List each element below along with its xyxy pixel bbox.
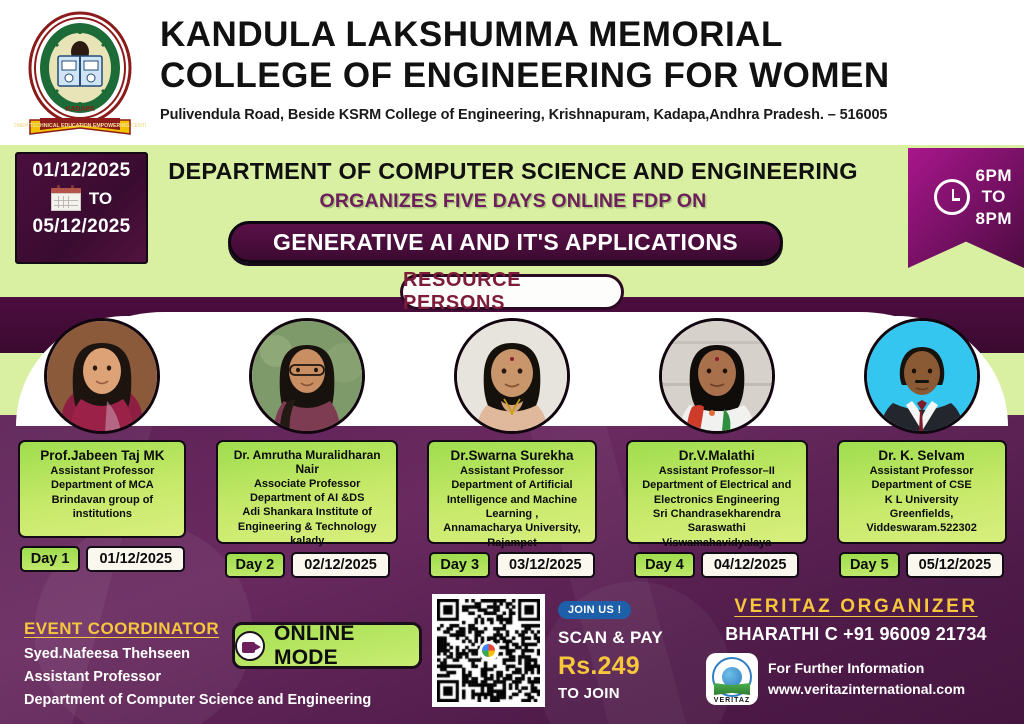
event-end-date: 05/12/2025 xyxy=(17,216,146,238)
resource-persons-label: RESOURCE PERSONS xyxy=(400,274,624,310)
event-date-box: 01/12/2025 TO 05/12/2025 xyxy=(15,152,148,264)
speaker-detail: Saraswathi xyxy=(633,521,801,535)
time-end: 8PM xyxy=(976,208,1012,229)
speaker-card: Dr.V.Malathi Assistant Professor–II Depa… xyxy=(626,440,808,544)
speaker-detail: Learning , xyxy=(434,507,590,521)
speaker-detail: Annamacharya University, xyxy=(434,521,590,535)
speaker-photo xyxy=(864,318,980,434)
day-label: Day 4 xyxy=(634,552,695,578)
day-label: Day 1 xyxy=(20,546,81,572)
speaker-detail: Sri Chandrasekharendra xyxy=(633,507,801,521)
day-date: 03/12/2025 xyxy=(496,552,595,578)
speaker-name: Dr. K. Selvam xyxy=(844,448,1000,464)
speaker-day-bar: Day 4 04/12/2025 xyxy=(634,552,799,578)
speaker-name: Dr.V.Malathi xyxy=(633,448,801,464)
time-to-label: TO xyxy=(976,186,1012,207)
speaker-detail: Assistant Professor–II xyxy=(633,464,801,478)
speaker-photo xyxy=(659,318,775,434)
speaker-detail: kalady xyxy=(223,534,391,548)
speaker-card: Prof.Jabeen Taj MK Assistant Professor D… xyxy=(18,440,186,538)
speaker-detail: Viddeswaram.522302 xyxy=(844,521,1000,535)
speaker-detail: Department of Artificial xyxy=(434,478,590,492)
date-to-label: TO xyxy=(89,189,112,209)
speaker-detail: institutions xyxy=(25,507,179,521)
speaker-column: Prof.Jabeen Taj MK Assistant Professor D… xyxy=(0,318,205,578)
speaker-day-bar: Day 3 03/12/2025 xyxy=(429,552,594,578)
speaker-name: Dr.Swarna Surekha xyxy=(434,448,590,464)
day-label: Day 3 xyxy=(429,552,490,578)
speaker-detail: Viswamahavidyalaya xyxy=(633,536,801,550)
speaker-column: Dr.V.Malathi Assistant Professor–II Depa… xyxy=(614,318,819,578)
to-join-label: TO JOIN xyxy=(558,685,663,702)
speaker-column: Dr.Swarna Surekha Assistant Professor De… xyxy=(410,318,615,578)
speaker-detail: Associate Professor xyxy=(223,477,391,491)
day-label: Day 5 xyxy=(839,552,900,578)
speaker-column: Dr. K. Selvam Assistant Professor Depart… xyxy=(819,318,1024,578)
speaker-card: Dr. K. Selvam Assistant Professor Depart… xyxy=(837,440,1007,544)
further-info-label: For Further Information xyxy=(768,658,965,679)
qr-matrix xyxy=(437,599,540,702)
day-date: 01/12/2025 xyxy=(86,546,185,572)
speaker-detail: Department of AI &DS xyxy=(223,491,391,505)
poster-header: KADAPA WOMEN TECHNICAL EDUCATION EMPOWER… xyxy=(0,0,1024,145)
speaker-day-bar: Day 2 02/12/2025 xyxy=(225,552,390,578)
online-mode-badge: ONLINE MODE xyxy=(232,622,422,669)
header-text-block: KANDULA LAKSHUMMA MEMORIAL COLLEGE OF EN… xyxy=(160,14,1020,123)
speaker-detail: Department of CSE xyxy=(844,478,1000,492)
college-crest-logo: KADAPA WOMEN TECHNICAL EDUCATION EMPOWER… xyxy=(14,8,146,140)
speakers-row: Prof.Jabeen Taj MK Assistant Professor D… xyxy=(0,318,1024,578)
speaker-card: Dr.Swarna Surekha Assistant Professor De… xyxy=(427,440,597,544)
calendar-icon xyxy=(51,185,81,212)
svg-text:WOMEN TECHNICAL EDUCATION EMPO: WOMEN TECHNICAL EDUCATION EMPOWERING CEN… xyxy=(14,123,146,129)
payment-info-block: JOIN US ! SCAN & PAY Rs.249 TO JOIN xyxy=(558,600,663,702)
coordinator-designation: Assistant Professor xyxy=(24,669,371,685)
speaker-photo xyxy=(249,318,365,434)
speaker-detail: Electronics Engineering xyxy=(633,493,801,507)
speaker-detail: Department of MCA xyxy=(25,478,179,492)
event-info-band: 01/12/2025 TO 05/12/2025 DEPARTMENT OF C… xyxy=(0,145,1024,275)
college-title-line-2: COLLEGE OF ENGINEERING FOR WOMEN xyxy=(160,55,1020,96)
qr-center-logo xyxy=(479,641,499,661)
organizer-contact: BHARATHI C +91 96009 21734 xyxy=(706,624,1006,645)
speaker-day-bar: Day 5 05/12/2025 xyxy=(839,552,1004,578)
join-us-badge: JOIN US ! xyxy=(558,601,631,619)
day-date: 04/12/2025 xyxy=(701,552,800,578)
day-label: Day 2 xyxy=(225,552,286,578)
speaker-day-bar: Day 1 01/12/2025 xyxy=(20,546,185,572)
scan-and-pay-label: SCAN & PAY xyxy=(558,628,663,648)
speaker-detail: Engineering & Technology xyxy=(223,520,391,534)
college-title-line-1: KANDULA LAKSHUMMA MEMORIAL xyxy=(160,14,1020,55)
speaker-name: Prof.Jabeen Taj MK xyxy=(25,448,179,464)
speaker-photo xyxy=(44,318,160,434)
payment-qr-code[interactable] xyxy=(432,594,545,707)
speaker-card: Dr. Amrutha Muralidharan Nair Associate … xyxy=(216,440,398,544)
speaker-detail: Assistant Professor xyxy=(434,464,590,478)
organizer-heading: VERITAZ ORGANIZER xyxy=(706,596,1006,618)
veritaz-logo: VERITAZ xyxy=(706,653,758,705)
department-title: DEPARTMENT OF COMPUTER SCIENCE AND ENGIN… xyxy=(163,158,863,185)
speaker-detail: Greenfields, xyxy=(844,507,1000,521)
organizes-subtitle: ORGANIZES FIVE DAYS ONLINE FDP ON xyxy=(163,190,863,213)
event-start-date: 01/12/2025 xyxy=(17,160,146,182)
speaker-detail: Rajampet xyxy=(434,536,590,550)
coordinator-department: Department of Computer Science and Engin… xyxy=(24,692,371,708)
day-date: 02/12/2025 xyxy=(291,552,390,578)
veritaz-logo-text: VERITAZ xyxy=(706,697,758,704)
online-mode-label: ONLINE MODE xyxy=(274,622,419,670)
organizer-block: VERITAZ ORGANIZER BHARATHI C +91 96009 2… xyxy=(706,596,1006,705)
speaker-detail: Assistant Professor xyxy=(844,464,1000,478)
speaker-detail: Intelligence and Machine xyxy=(434,493,590,507)
organizer-website[interactable]: www.veritazinternational.com xyxy=(768,679,965,700)
time-start: 6PM xyxy=(976,165,1012,186)
speaker-column: Dr. Amrutha Muralidharan Nair Associate … xyxy=(205,318,410,578)
clock-icon xyxy=(934,179,970,215)
speaker-detail: Adi Shankara Institute of xyxy=(223,505,391,519)
video-camera-icon xyxy=(235,631,265,661)
poster-root: KADAPA WOMEN TECHNICAL EDUCATION EMPOWER… xyxy=(0,0,1024,724)
fdp-topic-title: GENERATIVE AI AND IT'S APPLICATIONS xyxy=(228,221,783,263)
speaker-name: Dr. Amrutha Muralidharan Nair xyxy=(223,448,391,477)
college-address: Pulivendula Road, Beside KSRM College of… xyxy=(160,107,1020,123)
speaker-detail: Brindavan group of xyxy=(25,493,179,507)
fee-amount: Rs.249 xyxy=(558,652,663,681)
speaker-photo xyxy=(454,318,570,434)
svg-text:KADAPA: KADAPA xyxy=(65,106,94,113)
speaker-detail: Department of Electrical and xyxy=(633,478,801,492)
day-date: 05/12/2025 xyxy=(906,552,1005,578)
speaker-detail: Assistant Professor xyxy=(25,464,179,478)
speaker-detail: K L University xyxy=(844,493,1000,507)
